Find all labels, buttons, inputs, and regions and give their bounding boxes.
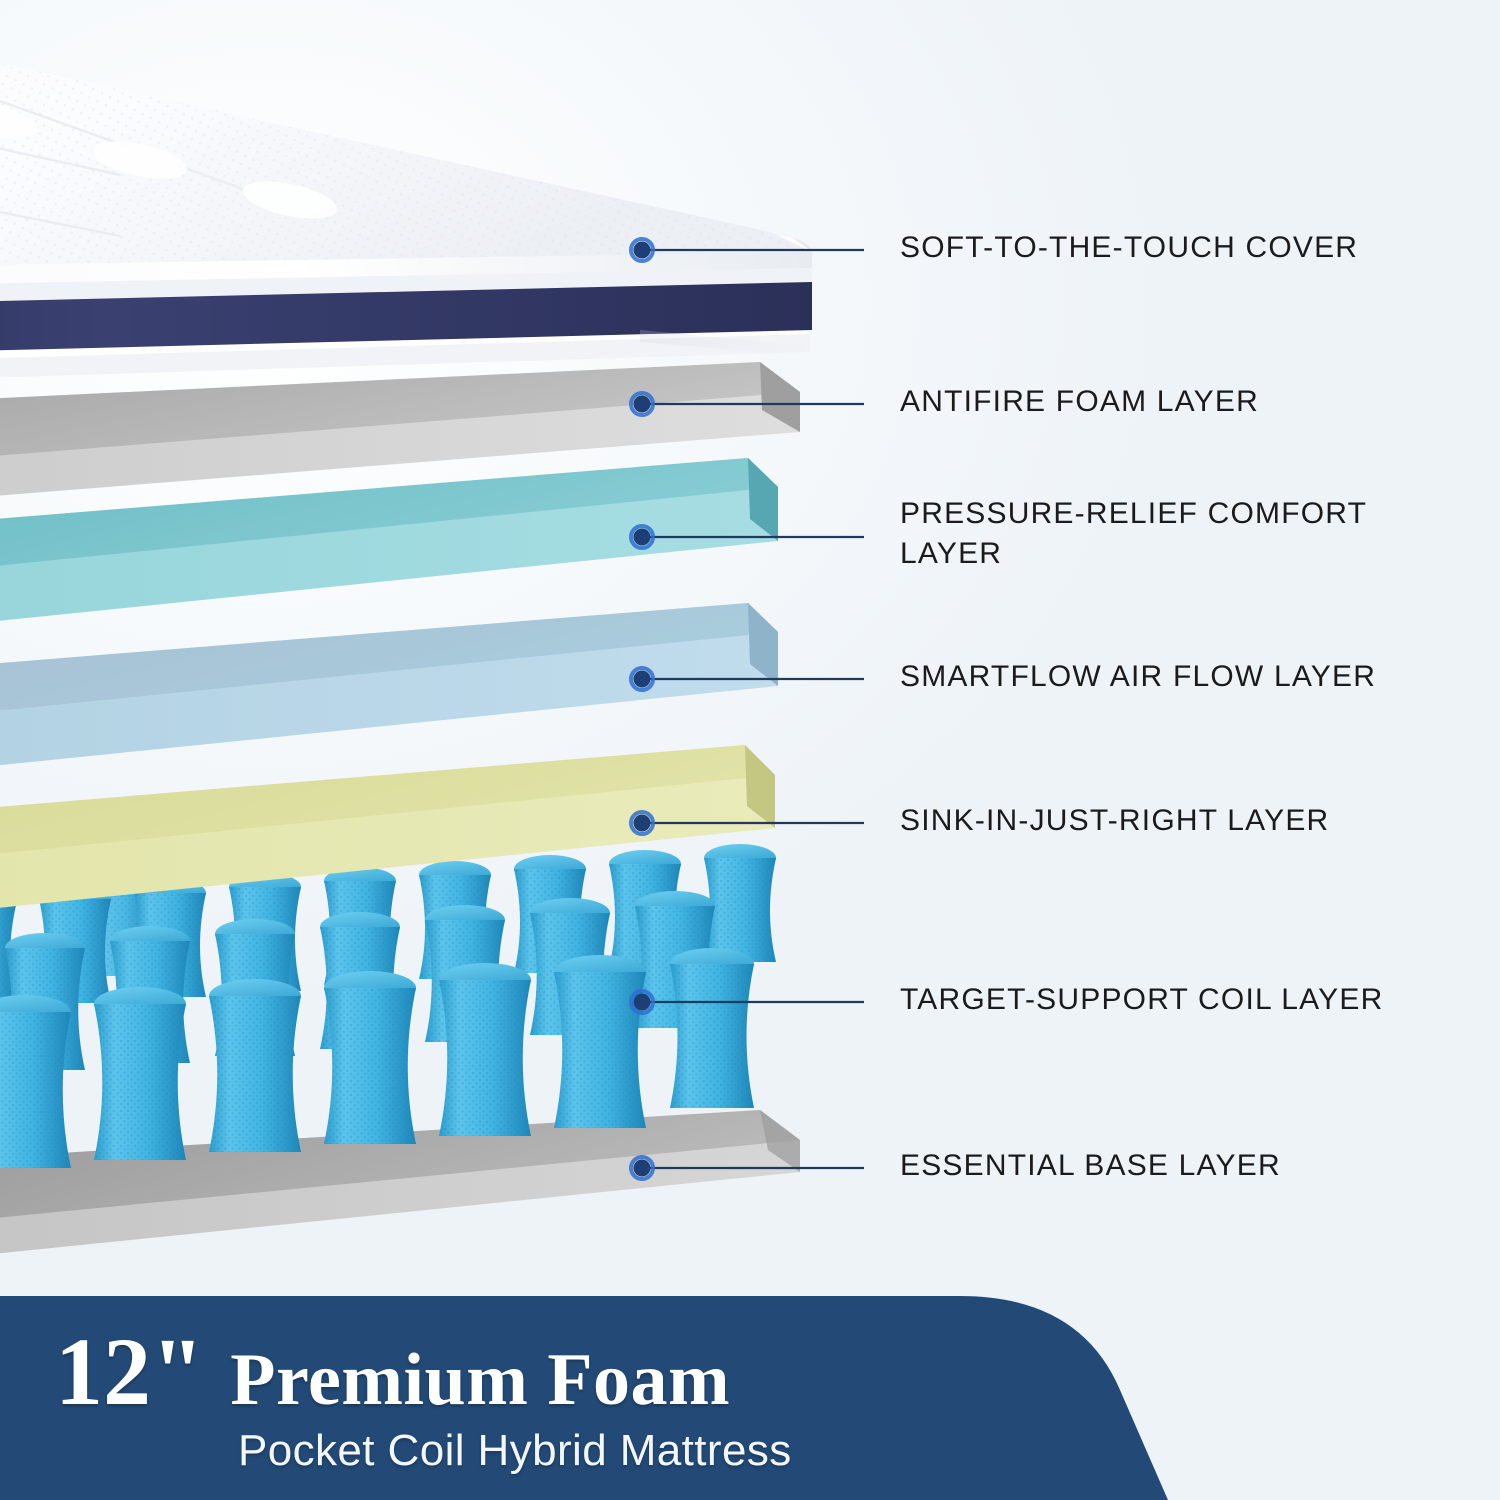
mattress-exploded-diagram [0,0,1500,1500]
product-subhead: Pocket Coil Hybrid Mattress [238,1426,792,1476]
callout-dot-sink-in-just-right-layer[interactable] [634,815,651,832]
callout-label-smartflow-air-flow-layer: SMARTFLOW AIR FLOW LAYER [900,657,1376,697]
banner-text-block: 12" Premium Foam Pocket Coil Hybrid Matt… [0,1296,1200,1500]
callout-label-soft-to-the-touch-cover: SOFT-TO-THE-TOUCH COVER [900,228,1358,268]
mattress-height-badge: 12" [55,1324,204,1420]
callout-dot-pressure-relief-comfort-layer[interactable] [634,529,651,546]
layer-soft-touch-cover [0,0,812,392]
callout-dot-soft-to-the-touch-cover[interactable] [634,242,651,259]
callout-label-essential-base-layer: ESSENTIAL BASE LAYER [900,1146,1281,1186]
product-infographic: SOFT-TO-THE-TOUCH COVERANTIFIRE FOAM LAY… [0,0,1500,1500]
callout-dot-essential-base-layer[interactable] [634,1160,651,1177]
callout-dot-antifire-foam-layer[interactable] [634,396,651,413]
product-headline: Premium Foam [230,1343,730,1417]
callout-dot-smartflow-air-flow-layer[interactable] [634,671,651,688]
callout-dot-target-support-coil-layer[interactable] [634,994,651,1011]
callout-label-target-support-coil-layer: TARGET-SUPPORT COIL LAYER [900,980,1383,1020]
callout-label-sink-in-just-right-layer: SINK-IN-JUST-RIGHT LAYER [900,801,1329,841]
banner-headline-row: 12" Premium Foam [55,1324,730,1420]
callout-label-pressure-relief-comfort-layer: PRESSURE-RELIEF COMFORT LAYER [900,494,1367,573]
callout-label-antifire-foam-layer: ANTIFIRE FOAM LAYER [900,382,1259,422]
